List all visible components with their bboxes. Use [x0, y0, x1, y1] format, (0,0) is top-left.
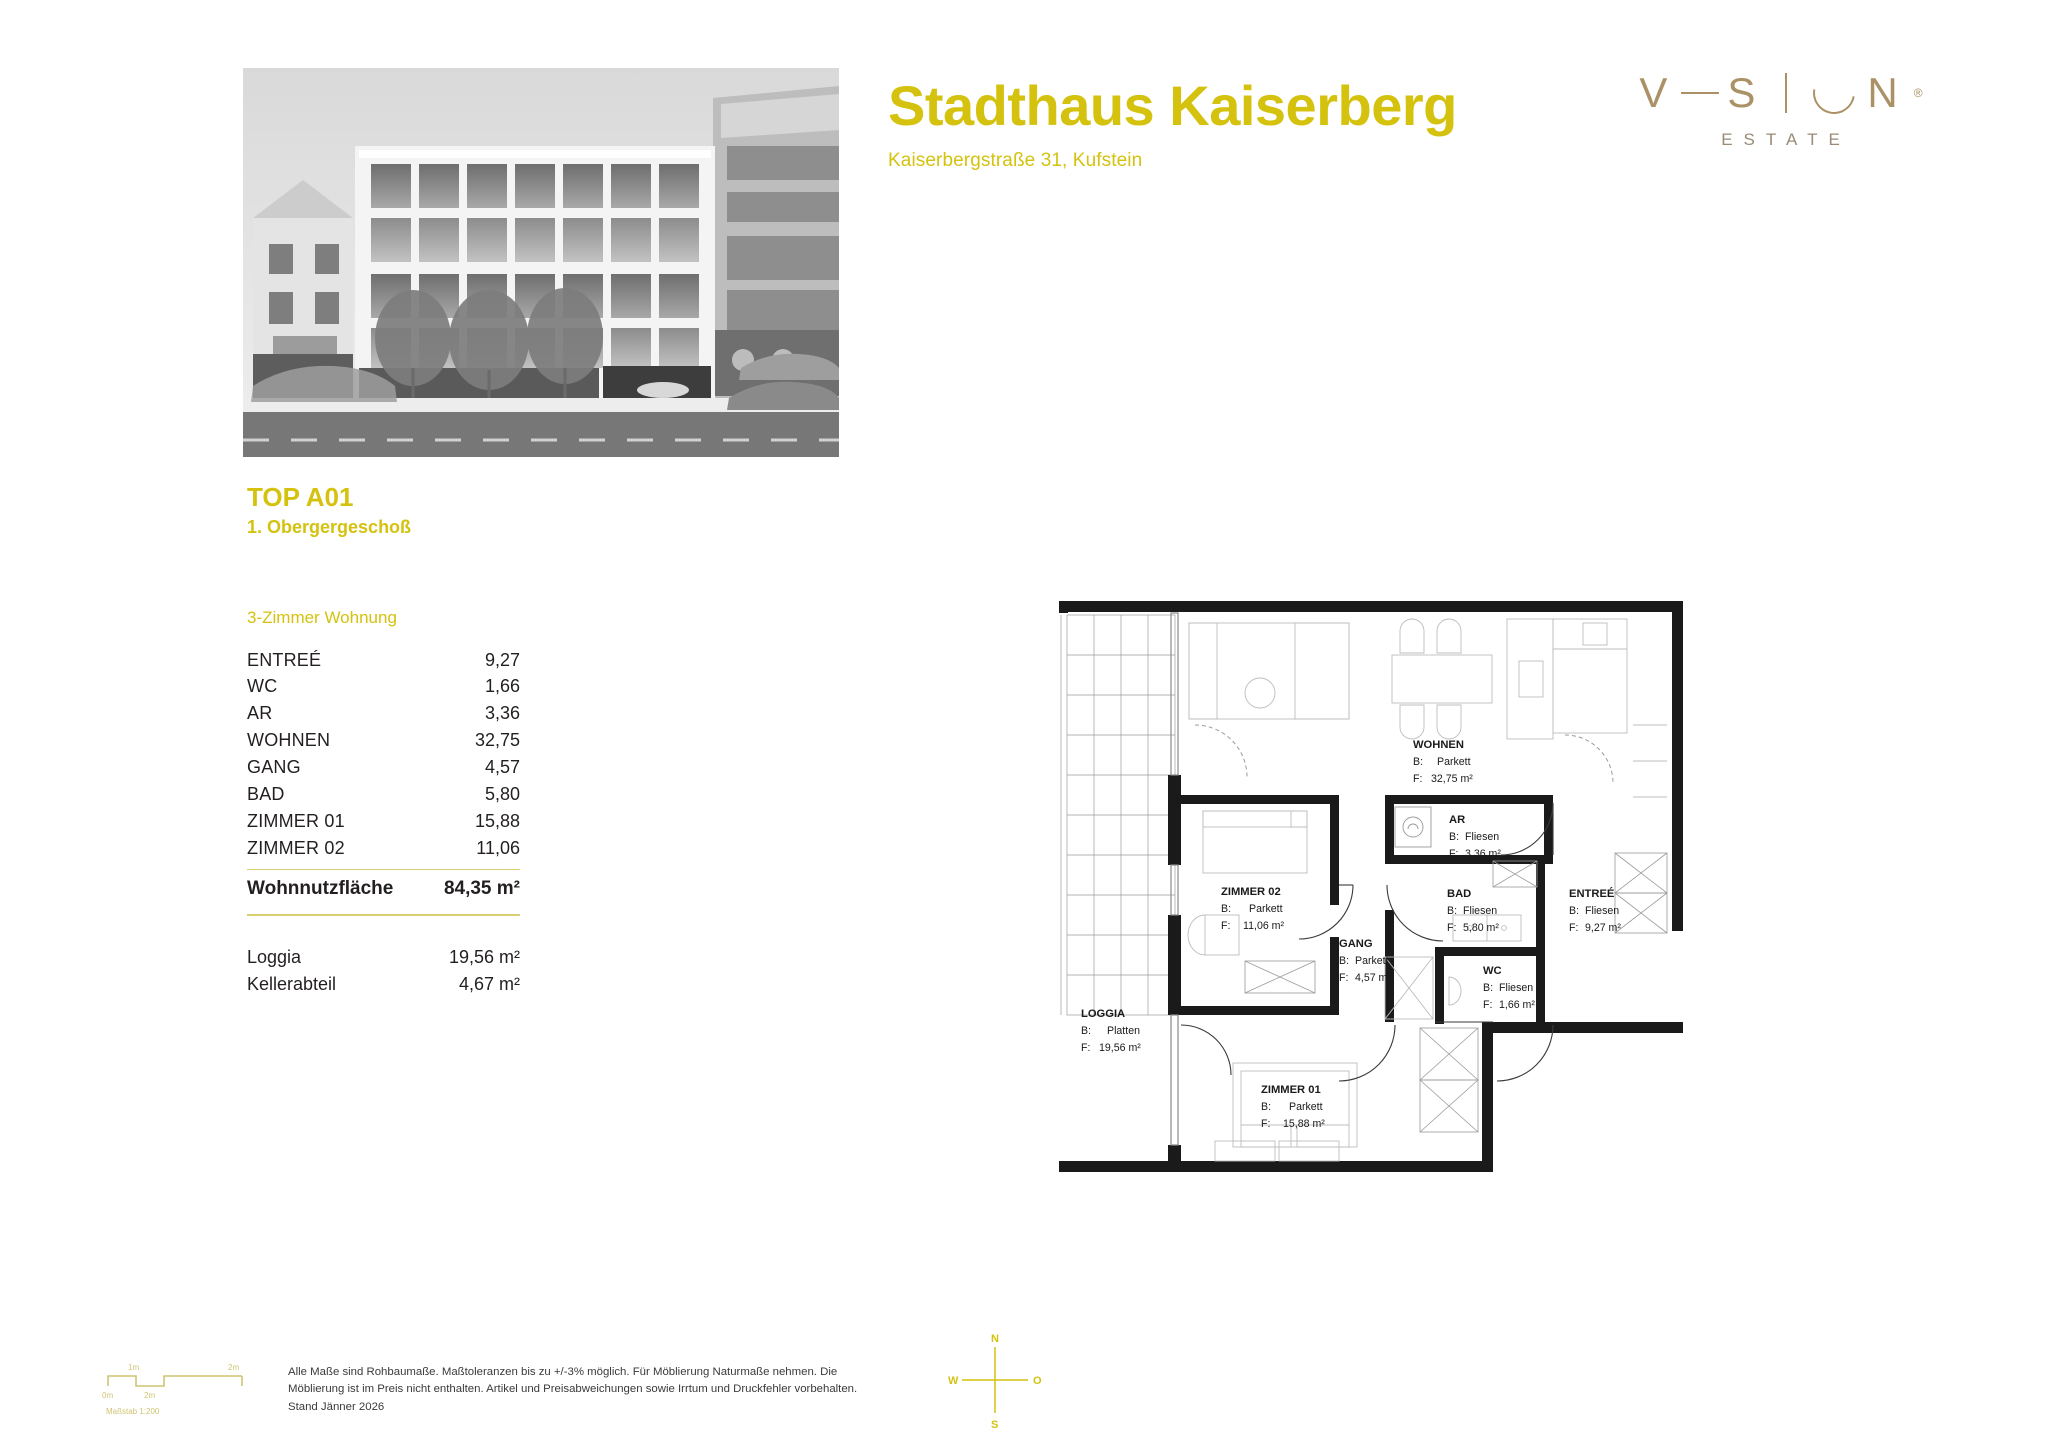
room-label-zimmer02: ZIMMER 02 B: Parkett F: 11,06 m² [1221, 886, 1284, 932]
document-page: Stadthaus Kaiserberg Kaiserbergstraße 31… [0, 0, 2048, 1448]
room-floor-key: B: [1081, 1025, 1091, 1037]
room-area: 5,80 m² [1463, 922, 1499, 934]
room-area-key: F: [1081, 1042, 1090, 1054]
logo-letter-s: S [1727, 72, 1771, 114]
room-label-wc: WC B: Fliesen F: 1,66 m² [1483, 965, 1535, 1011]
logo-wordmark: V S N ® [1596, 72, 1966, 114]
logo-dash-icon [1681, 92, 1719, 94]
table-row: ENTREÉ 9,27 [247, 647, 520, 674]
room-floor-key: B: [1221, 903, 1231, 915]
scale-tick-2m-lower: 2m [144, 1391, 155, 1400]
room-name: LOGGIA [1081, 1008, 1125, 1020]
room-name: ZIMMER 02 [247, 837, 345, 861]
disclaimer-line-3: Stand Jänner 2026 [288, 1399, 908, 1416]
room-floor-key: B: [1483, 982, 1493, 994]
room-floor-key: B: [1449, 831, 1459, 843]
room-name: WC [247, 675, 277, 699]
room-label-bad: BAD B: Fliesen F: 5,80 m² [1447, 888, 1499, 934]
room-name: ZIMMER 02 [1221, 886, 1281, 898]
room-area: 9,27 [485, 649, 520, 673]
room-area: 19,56 m² [1099, 1042, 1141, 1054]
compass-north-label: N [991, 1333, 999, 1345]
unit-floor-label: 1. Obergergeschoß [247, 517, 411, 538]
compass-east-label: O [1033, 1375, 1042, 1387]
building-photo [243, 68, 839, 457]
unit-label-block: TOP A01 1. Obergergeschoß [247, 483, 411, 538]
room-floor: Parkett [1249, 903, 1283, 915]
room-floor: Platten [1107, 1025, 1140, 1037]
room-area-key: F: [1449, 848, 1458, 860]
room-floor: Fliesen [1585, 905, 1619, 917]
room-floor: Parkett [1437, 756, 1471, 768]
logo-letter-n: N [1867, 72, 1913, 114]
room-label-gang: GANG B: Parkett F: 4,57 m [1339, 938, 1389, 984]
room-name: BAD [1447, 888, 1471, 900]
room-area: 5,80 [485, 783, 520, 807]
room-name: GANG [247, 756, 301, 780]
extra-name: Loggia [247, 945, 301, 970]
room-name: WOHNEN [247, 729, 330, 753]
room-area: 3,36 m² [1465, 848, 1501, 860]
scale-tick-2m-upper: 2m [228, 1363, 239, 1372]
room-label-entree: ENTREÉ B: Fliesen F: 9,27 m² [1569, 887, 1621, 934]
list-item: Loggia 19,56 m² [247, 944, 520, 971]
room-area: 15,88 m² [1283, 1118, 1325, 1130]
room-area-key: F: [1221, 920, 1230, 932]
logo-tagline: ESTATE [1596, 130, 1966, 150]
room-area-key: F: [1261, 1118, 1270, 1130]
disclaimer-line-1: Alle Maße sind Rohbaumaße. Maßtoleranzen… [288, 1364, 908, 1381]
room-name: GANG [1339, 938, 1373, 950]
room-floor: Parkett [1289, 1101, 1323, 1113]
floorplan-drawing: WOHNEN B: Parkett F: 32,75 m² AR B: Flie… [1055, 585, 1695, 1205]
room-floor-key: B: [1447, 905, 1457, 917]
extra-name: Kellerabteil [247, 972, 336, 997]
room-area: 11,06 [476, 837, 520, 861]
total-value: 84,35 m² [444, 878, 520, 900]
total-label: Wohnnutzfläche [247, 878, 393, 900]
room-area: 4,57 [485, 756, 520, 780]
area-table: 3-Zimmer Wohnung ENTREÉ 9,27 WC 1,66 AR … [247, 608, 520, 997]
total-row: Wohnnutzfläche 84,35 m² [247, 870, 520, 908]
table-row: WC 1,66 [247, 674, 520, 701]
room-area: 11,06 m² [1243, 920, 1284, 932]
room-floor: Fliesen [1463, 905, 1497, 917]
room-area: 1,66 [485, 675, 520, 699]
registered-mark: ® [1914, 86, 1923, 100]
room-label-wohnen: WOHNEN B: Parkett F: 32,75 m² [1413, 739, 1473, 785]
logo-circle-icon [1805, 64, 1863, 122]
compass-south-label: S [991, 1419, 998, 1431]
project-address: Kaiserbergstraße 31, Kufstein [888, 150, 1528, 172]
room-name: AR [247, 702, 272, 726]
room-area: 15,88 [475, 810, 520, 834]
project-title: Stadthaus Kaiserberg [888, 78, 1528, 134]
list-item: Kellerabteil 4,67 m² [247, 971, 520, 998]
room-area: 9,27 m² [1585, 922, 1621, 934]
room-name: AR [1449, 814, 1465, 826]
room-area: 32,75 [475, 729, 520, 753]
table-divider-bottom [247, 914, 520, 916]
room-name: ENTREÉ [247, 649, 321, 673]
room-area-key: F: [1569, 922, 1578, 934]
unit-top-label: TOP A01 [247, 483, 411, 513]
table-row: ZIMMER 02 11,06 [247, 836, 520, 863]
apartment-type-heading: 3-Zimmer Wohnung [247, 608, 520, 628]
room-name: BAD [247, 783, 285, 807]
table-row: GANG 4,57 [247, 755, 520, 782]
room-label-ar: AR B: Fliesen F: 3,36 m² [1449, 814, 1501, 860]
room-area: 1,66 m² [1499, 999, 1535, 1011]
room-floor-key: B: [1339, 955, 1349, 967]
header-title-block: Stadthaus Kaiserberg Kaiserbergstraße 31… [888, 78, 1528, 172]
vision-estate-logo: V S N ® ESTATE [1596, 72, 1966, 172]
room-floor-key: B: [1413, 756, 1423, 768]
extra-areas: Loggia 19,56 m² Kellerabteil 4,67 m² [247, 944, 520, 998]
room-label-zimmer01: ZIMMER 01 B: Parkett F: 15,88 m² [1261, 1084, 1325, 1130]
extra-value: 19,56 m² [449, 945, 520, 970]
room-floor: Fliesen [1465, 831, 1499, 843]
table-row: ZIMMER 01 15,88 [247, 809, 520, 836]
compass-rose: N O S W [940, 1325, 1050, 1435]
room-area-key: F: [1339, 972, 1348, 984]
room-name: ZIMMER 01 [247, 810, 345, 834]
room-area: 3,36 [485, 702, 520, 726]
room-name: ZIMMER 01 [1261, 1084, 1321, 1096]
scale-caption: Maßstab 1:200 [106, 1407, 160, 1416]
room-name: WOHNEN [1413, 739, 1464, 751]
scale-tick-1m: 1m [128, 1363, 139, 1372]
room-area-key: F: [1447, 922, 1456, 934]
table-row: BAD 5,80 [247, 782, 520, 809]
logo-letter-v: V [1639, 72, 1683, 114]
disclaimer-text: Alle Maße sind Rohbaumaße. Maßtoleranzen… [288, 1364, 908, 1416]
logo-bar-icon [1785, 73, 1787, 113]
room-area: 4,57 m [1355, 972, 1388, 984]
table-row: AR 3,36 [247, 701, 520, 728]
disclaimer-line-2: Möblierung ist im Preis nicht enthalten.… [288, 1381, 908, 1398]
room-floor-key: B: [1261, 1101, 1271, 1113]
room-floor: Fliesen [1499, 982, 1533, 994]
table-row: WOHNEN 32,75 [247, 728, 520, 755]
extra-value: 4,67 m² [459, 972, 520, 997]
room-area: 32,75 m² [1431, 773, 1473, 785]
room-floor-key: B: [1569, 905, 1579, 917]
room-area-key: F: [1483, 999, 1492, 1011]
room-name: ENTREÉ [1569, 887, 1615, 900]
scale-bar: 0m 1m 2m 2m Maßstab 1:200 [100, 1348, 250, 1428]
room-area-key: F: [1413, 773, 1422, 785]
room-name: WC [1483, 965, 1502, 977]
compass-west-label: W [948, 1375, 959, 1387]
scale-tick-0m: 0m [102, 1391, 113, 1400]
room-floor: Parkett [1355, 955, 1389, 967]
